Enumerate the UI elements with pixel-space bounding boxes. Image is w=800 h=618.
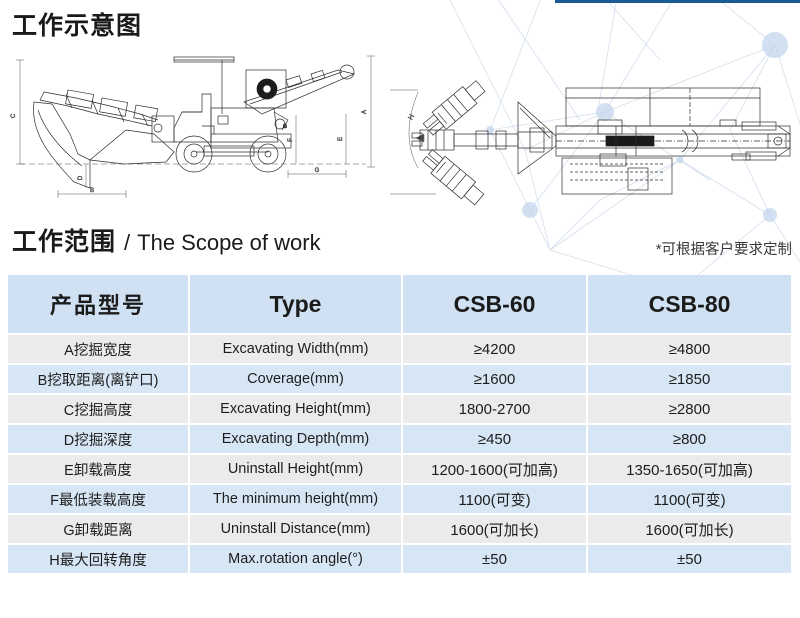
row-label-cn: E卸载高度 [8, 455, 190, 485]
header-csb-80: CSB-80 [588, 275, 791, 335]
row-label-cn: A挖掘宽度 [8, 335, 190, 365]
row-label-cn: D挖掘深度 [8, 425, 190, 455]
row-label-en: Coverage(mm) [190, 365, 403, 395]
scope-heading: 工作范围 / The Scope of work [12, 222, 321, 258]
header-csb-60: CSB-60 [403, 275, 588, 335]
row-label-en: Excavating Depth(mm) [190, 425, 403, 455]
svg-text:G: G [283, 124, 287, 130]
row-value-csb60: 1800-2700 [403, 395, 588, 425]
row-value-csb80: ≥2800 [588, 395, 791, 425]
table-row: E卸载高度 Uninstall Height(mm) 1200-1600(可加高… [8, 455, 791, 485]
row-value-csb60: ±50 [403, 545, 588, 575]
svg-text:G: G [315, 168, 320, 174]
row-value-csb80: ≥4800 [588, 335, 791, 365]
diagram-row: C B D A G F E [0, 42, 800, 207]
table-row: D挖掘深度 Excavating Depth(mm) ≥450 ≥800 [8, 425, 791, 455]
svg-text:C: C [11, 113, 17, 118]
row-label-cn: F最低装载高度 [8, 485, 190, 515]
table-row: F最低装载高度 The minimum height(mm) 1100(可变) … [8, 485, 791, 515]
customization-note: *可根据客户要求定制 [656, 238, 792, 259]
row-value-csb80: ≥800 [588, 425, 791, 455]
row-value-csb60: 1100(可变) [403, 485, 588, 515]
row-label-en: Excavating Width(mm) [190, 335, 403, 365]
svg-text:D: D [78, 175, 84, 180]
table-body: A挖掘宽度 Excavating Width(mm) ≥4200 ≥4800 B… [8, 335, 791, 575]
row-value-csb80: 1100(可变) [588, 485, 791, 515]
table-header-row: 产品型号 Type CSB-60 CSB-80 [8, 275, 791, 335]
row-label-cn: B挖取距离(离铲口) [8, 365, 190, 395]
scope-title-cn: 工作范围 [12, 222, 116, 258]
row-value-csb60: 1200-1600(可加高) [403, 455, 588, 485]
header-type: Type [190, 275, 403, 335]
row-value-csb80: 1600(可加长) [588, 515, 791, 545]
row-label-cn: C挖掘高度 [8, 395, 190, 425]
row-label-en: Uninstall Distance(mm) [190, 515, 403, 545]
table-row: A挖掘宽度 Excavating Width(mm) ≥4200 ≥4800 [8, 335, 791, 365]
table-row: C挖掘高度 Excavating Height(mm) 1800-2700 ≥2… [8, 395, 791, 425]
row-value-csb60: ≥1600 [403, 365, 588, 395]
top-view-diagram: H [390, 42, 796, 207]
row-value-csb60: ≥450 [403, 425, 588, 455]
table-row: B挖取距离(离铲口) Coverage(mm) ≥1600 ≥1850 [8, 365, 791, 395]
row-value-csb80: 1350-1650(可加高) [588, 455, 791, 485]
row-label-cn: G卸载距离 [8, 515, 190, 545]
row-label-en: The minimum height(mm) [190, 485, 403, 515]
top-accent-rule [555, 0, 800, 3]
scope-title-en: The Scope of work [137, 230, 320, 256]
table-row: H最大回转角度 Max.rotation angle(°) ±50 ±50 [8, 545, 791, 575]
row-value-csb60: 1600(可加长) [403, 515, 588, 545]
row-value-csb60: ≥4200 [403, 335, 588, 365]
svg-text:B: B [90, 188, 94, 194]
row-label-en: Uninstall Height(mm) [190, 455, 403, 485]
scope-title-separator: / [124, 230, 130, 256]
svg-text:H: H [407, 113, 416, 121]
row-label-cn: H最大回转角度 [8, 545, 190, 575]
row-value-csb80: ≥1850 [588, 365, 791, 395]
page-title-working-diagram: 工作示意图 [12, 6, 142, 42]
specification-table: 产品型号 Type CSB-60 CSB-80 A挖掘宽度 Excavating… [8, 275, 791, 575]
svg-text:E: E [338, 137, 344, 141]
row-value-csb80: ±50 [588, 545, 791, 575]
row-label-en: Excavating Height(mm) [190, 395, 403, 425]
header-product-model: 产品型号 [8, 275, 190, 335]
side-view-diagram: C B D A G F E [6, 42, 384, 207]
svg-text:A: A [362, 110, 368, 114]
table-row: G卸载距离 Uninstall Distance(mm) 1600(可加长) 1… [8, 515, 791, 545]
row-label-en: Max.rotation angle(°) [190, 545, 403, 575]
